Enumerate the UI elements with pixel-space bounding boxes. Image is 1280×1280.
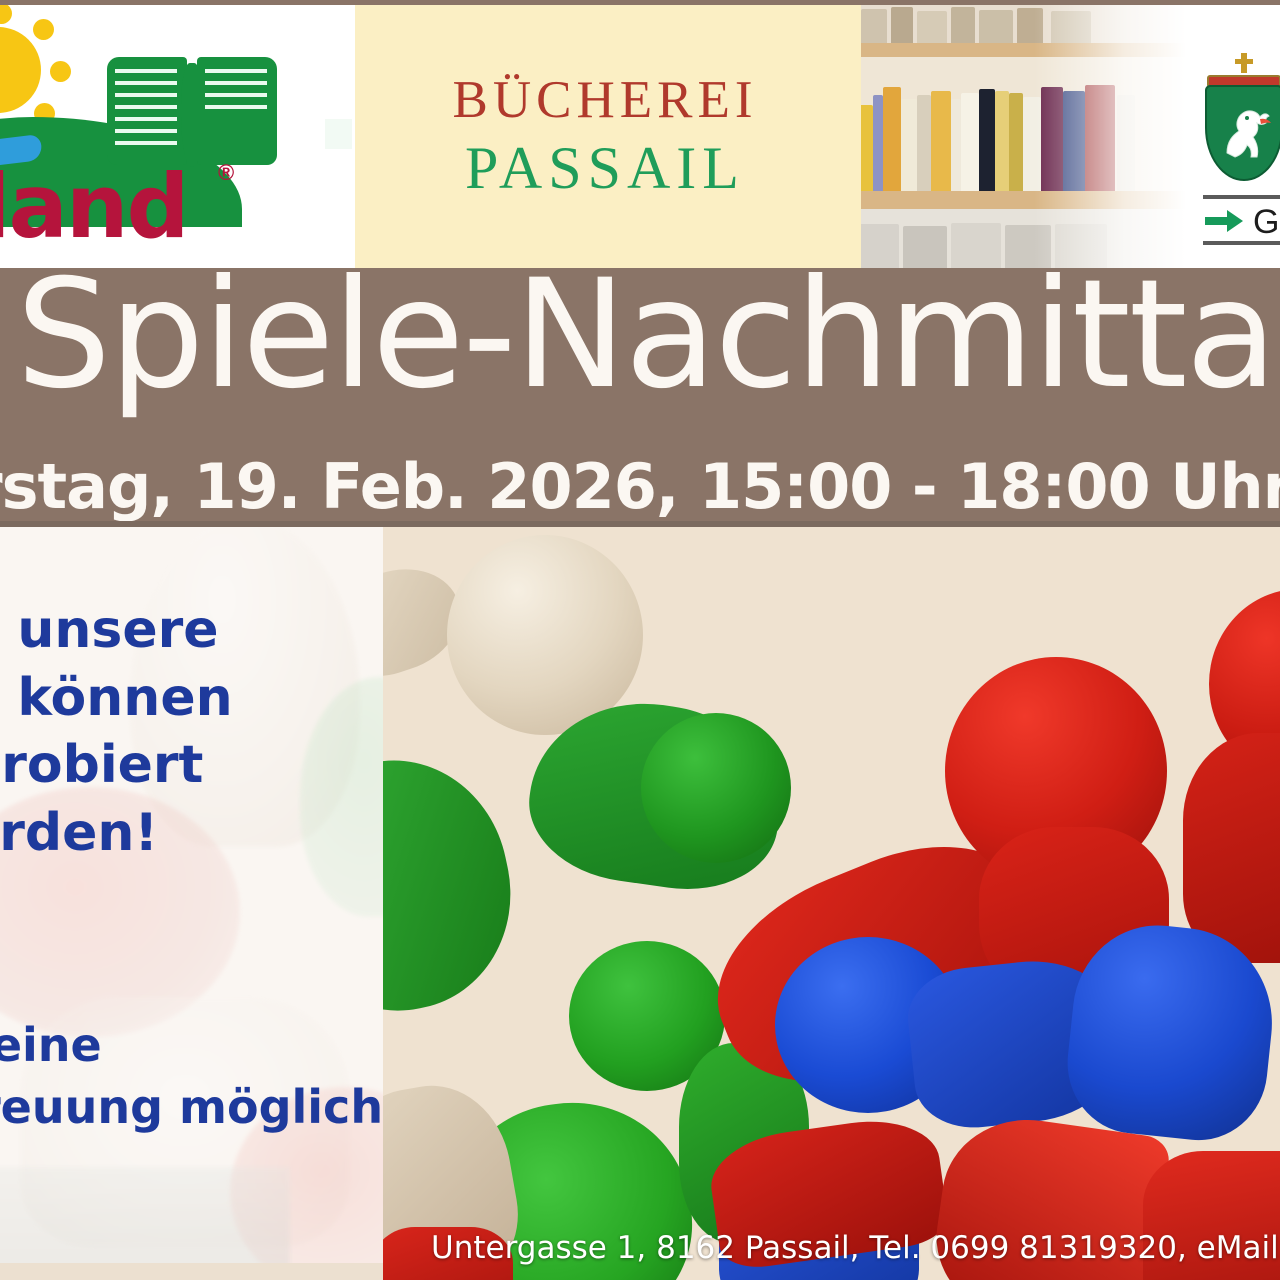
contact-footer: Untergasse 1, 8162 Passail, Tel. 0699 81… (431, 1230, 1280, 1266)
pawn-green-base-icon (383, 740, 532, 1032)
event-datetime-subtitle: rstag, 19. Feb. 2026, 15:00 - 18:00 Uhr … (0, 456, 1280, 518)
logo-gesunde-gemeinde: Ges (1185, 5, 1280, 268)
sun-ray-icon (0, 5, 12, 24)
logo-buecherei-passail: BÜCHEREI PASSAIL (355, 5, 855, 268)
pawn-green-icon (641, 713, 791, 863)
game-pieces-photo: Untergasse 1, 8162 Passail, Tel. 0699 81… (383, 527, 1280, 1280)
headline-line: probiert (0, 732, 383, 800)
pawn-wood-icon (447, 535, 643, 735)
apfelland-wordmark: enland (0, 155, 188, 258)
sun-ray-icon (50, 61, 71, 82)
divider-top (1203, 195, 1280, 199)
bottom-accent-strip (0, 1263, 383, 1280)
headline-line: erden! (0, 800, 383, 868)
page-title: Spiele-Nachmittag (16, 268, 1280, 410)
library-name-line2: PASSAIL (465, 134, 745, 203)
pawn-red-icon (1183, 733, 1280, 963)
logo-apfelland: enland ® (0, 5, 352, 268)
note-text: Keine treuung möglich (0, 1015, 383, 1138)
headline-line: e können (0, 665, 383, 733)
header-logo-band: enland ® BÜCHEREI PASSAIL (0, 5, 1280, 268)
gesunde-gemeinde-label: Ges (1253, 203, 1280, 242)
bookshelf-photo (855, 5, 1200, 268)
note-line: treuung möglich (0, 1077, 383, 1139)
registered-mark-icon: ® (218, 160, 234, 186)
arrow-right-icon (1203, 207, 1245, 235)
title-banner: Spiele-Nachmittag rstag, 19. Feb. 2026, … (0, 268, 1280, 527)
styria-coat-of-arms-icon (1205, 85, 1280, 181)
poster-root: enland ® BÜCHEREI PASSAIL (0, 0, 1280, 1280)
headline-line: e unsere (0, 597, 383, 665)
library-name-line1: BÜCHEREI (453, 70, 758, 130)
ghost-shadow (0, 1167, 290, 1263)
note-line: Keine (0, 1015, 383, 1077)
headline-text: e unsere e können probiert erden! (0, 597, 383, 867)
content-area: e unsere e können probiert erden! Keine … (0, 527, 1280, 1280)
sun-icon (0, 27, 41, 113)
sun-ray-icon (33, 19, 54, 40)
left-text-panel: e unsere e können probiert erden! Keine … (0, 527, 383, 1263)
divider-bottom (1203, 241, 1280, 245)
